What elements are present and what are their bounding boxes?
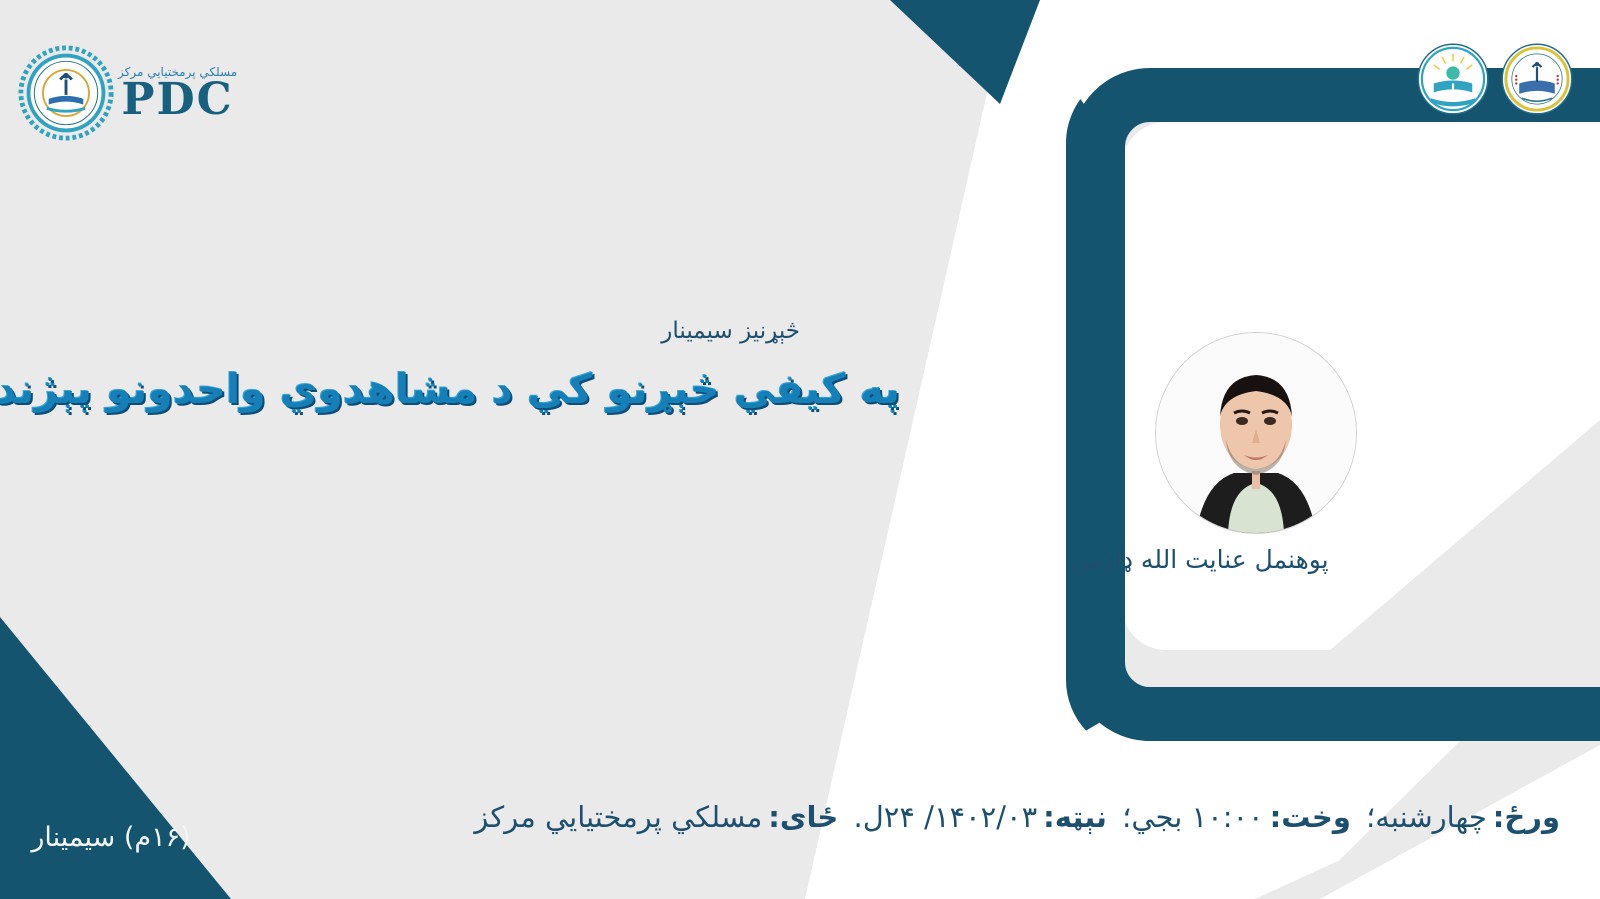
seminar-poster: مسلکي پرمختیایي مرکز PDC (0, 0, 1600, 899)
portrait-illustration (1156, 333, 1356, 533)
time-value: ۱۰:۰۰ بجي؛ (1122, 800, 1263, 834)
place-label: ځای: (768, 800, 838, 834)
pdc-seal-icon (18, 45, 114, 141)
event-details: ورځ:چهارشنبه؛ وخت:۱۰:۰۰ بجي؛ نېټه:۱۴۰۲/۰… (0, 800, 1580, 834)
seminar-kicker: څېړنیز سیمینار (40, 318, 800, 344)
date-value: ۱۴۰۲/۰۳/ ۲۴ل. (853, 800, 1037, 834)
time-label: وخت: (1270, 800, 1351, 834)
title-block: څېړنیز سیمینار په کیفي څېړنو کي د مشاهدو… (40, 318, 900, 419)
teal-bottom-bar (1150, 687, 1600, 741)
pdc-wordmark: مسلکي پرمختیایي مرکز PDC (118, 66, 237, 121)
day-value: چهارشنبه؛ (1366, 800, 1487, 834)
day-label: ورځ: (1493, 800, 1560, 834)
university-seals (1416, 42, 1574, 116)
presenter-name: پوهنمل عنایت الله ډاډمن (1000, 545, 1400, 574)
date-label: نېټه: (1043, 800, 1107, 834)
kandahar-university-seal-icon (1500, 42, 1574, 116)
seminar-title: په کیفي څېړنو کي د مشاهدوي واحدونو پېژند… (40, 360, 900, 419)
place-value: مسلکي پرمختیایي مرکز (474, 800, 762, 834)
seminar-number-badge: (۱۶م) سیمینار (6, 822, 216, 853)
pdc-logo: مسلکي پرمختیایي مرکز PDC (18, 38, 298, 148)
education-faculty-seal-icon (1416, 42, 1490, 116)
presenter-photo (1155, 332, 1357, 534)
pdc-acronym: PDC (121, 79, 233, 121)
